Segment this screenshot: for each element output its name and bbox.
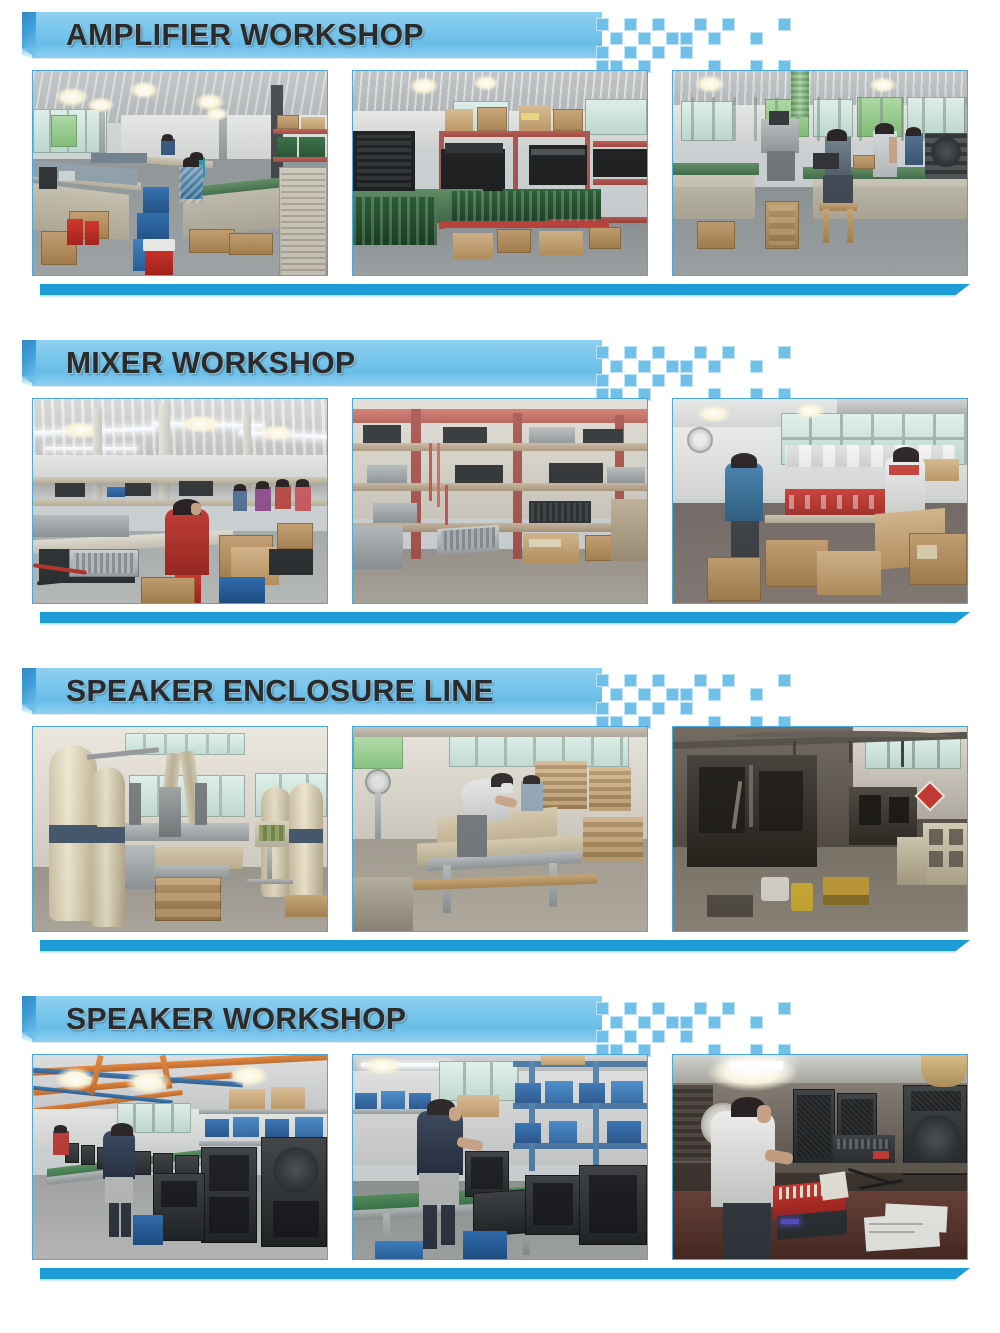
checker-cell (666, 1016, 679, 1029)
checker-cell (652, 702, 665, 715)
checkerboard-pattern (596, 674, 796, 734)
checker-cell (680, 688, 693, 701)
ribbon-fold-shadow (22, 376, 38, 388)
checker-cell (680, 702, 693, 715)
section-divider-bar (0, 282, 1000, 300)
section-banner: SPEAKER ENCLOSURE LINE (0, 656, 1000, 726)
checker-cell (778, 674, 791, 687)
checker-cell (638, 360, 651, 373)
photo-row (0, 1054, 1000, 1266)
checker-cell (708, 32, 721, 45)
checker-cell (722, 674, 735, 687)
checker-cell (750, 1016, 763, 1029)
photo-row (0, 726, 1000, 938)
workshop-gallery-page: AMPLIFIER WORKSHOP (0, 0, 1000, 1333)
checker-cell (610, 32, 623, 45)
divider-bar (40, 612, 970, 623)
photo-speaker-assembly (352, 1054, 648, 1260)
checker-cell (652, 346, 665, 359)
checker-cell (652, 1002, 665, 1015)
checker-cell (596, 1030, 609, 1043)
checker-cell (624, 674, 637, 687)
checker-cell (722, 346, 735, 359)
checker-cell (680, 374, 693, 387)
section-title: AMPLIFIER WORKSHOP (66, 12, 424, 58)
checker-cell (666, 360, 679, 373)
checker-cell (652, 1030, 665, 1043)
checkerboard-pattern (596, 18, 796, 78)
photo-row (0, 70, 1000, 282)
checker-cell (750, 688, 763, 701)
checker-cell (624, 374, 637, 387)
section-mixer-workshop: MIXER WORKSHOP (0, 328, 1000, 656)
checker-cell (624, 1030, 637, 1043)
checker-cell (722, 1002, 735, 1015)
checker-cell (652, 46, 665, 59)
section-title: SPEAKER ENCLOSURE LINE (66, 668, 494, 714)
ribbon-fold-shadow (22, 704, 38, 716)
checker-cell (750, 32, 763, 45)
checker-cell (596, 1002, 609, 1015)
divider-bar (40, 940, 970, 951)
section-divider-bar (0, 610, 1000, 628)
checker-cell (624, 46, 637, 59)
ribbon-fold-shadow (22, 48, 38, 60)
checker-cell (750, 360, 763, 373)
checker-cell (666, 688, 679, 701)
checker-cell (652, 374, 665, 387)
checker-cell (694, 674, 707, 687)
checker-cell (652, 18, 665, 31)
checker-cell (638, 688, 651, 701)
checker-cell (652, 674, 665, 687)
checker-cell (778, 346, 791, 359)
section-speaker-workshop: SPEAKER WORKSHOP (0, 984, 1000, 1284)
photo-cnc (32, 726, 328, 932)
checker-cell (680, 32, 693, 45)
section-title: SPEAKER WORKSHOP (66, 996, 406, 1042)
checker-cell (694, 1002, 707, 1015)
photo-amp-racks (352, 70, 648, 276)
checker-cell (694, 346, 707, 359)
divider-bar-shadow (40, 951, 956, 954)
ribbon-fold-shadow (22, 1032, 38, 1044)
checker-cell (680, 360, 693, 373)
divider-bar-shadow (40, 1279, 956, 1282)
photo-amp-test (672, 70, 968, 276)
photo-panelsaw (352, 726, 648, 932)
section-banner: MIXER WORKSHOP (0, 328, 1000, 398)
section-divider-bar (0, 1266, 1000, 1284)
section-banner: AMPLIFIER WORKSHOP (0, 0, 1000, 70)
checker-cell (596, 346, 609, 359)
checkerboard-pattern (596, 346, 796, 406)
checker-cell (680, 1030, 693, 1043)
checker-cell (624, 1002, 637, 1015)
checker-cell (638, 1016, 651, 1029)
photo-mixer-hall (32, 398, 328, 604)
divider-bar-shadow (40, 295, 956, 298)
checker-cell (596, 46, 609, 59)
checker-cell (596, 674, 609, 687)
section-divider-bar (0, 938, 1000, 956)
photo-mixer-racks (352, 398, 648, 604)
photo-row (0, 398, 1000, 610)
checkerboard-pattern (596, 1002, 796, 1062)
checker-cell (722, 18, 735, 31)
divider-bar-shadow (40, 623, 956, 626)
checker-cell (708, 1016, 721, 1029)
checker-cell (694, 18, 707, 31)
section-speaker-enclosure-line: SPEAKER ENCLOSURE LINE (0, 656, 1000, 984)
checker-cell (610, 688, 623, 701)
checker-cell (624, 702, 637, 715)
checker-cell (610, 1016, 623, 1029)
photo-speaker-qc (672, 1054, 968, 1260)
checker-cell (680, 46, 693, 59)
checker-cell (624, 346, 637, 359)
photo-finishing (672, 726, 968, 932)
checker-cell (596, 702, 609, 715)
section-amplifier-workshop: AMPLIFIER WORKSHOP (0, 0, 1000, 328)
photo-amp-line (32, 70, 328, 276)
photo-mixer-packing (672, 398, 968, 604)
photo-speaker-line (32, 1054, 328, 1260)
section-title: MIXER WORKSHOP (66, 340, 355, 386)
checker-cell (596, 374, 609, 387)
checker-cell (778, 1002, 791, 1015)
divider-bar (40, 1268, 970, 1279)
checker-cell (624, 18, 637, 31)
checker-cell (638, 32, 651, 45)
checker-cell (778, 18, 791, 31)
checker-cell (666, 32, 679, 45)
checker-cell (708, 360, 721, 373)
divider-bar (40, 284, 970, 295)
checker-cell (596, 18, 609, 31)
section-banner: SPEAKER WORKSHOP (0, 984, 1000, 1054)
checker-cell (610, 360, 623, 373)
checker-cell (680, 1016, 693, 1029)
checker-cell (708, 688, 721, 701)
